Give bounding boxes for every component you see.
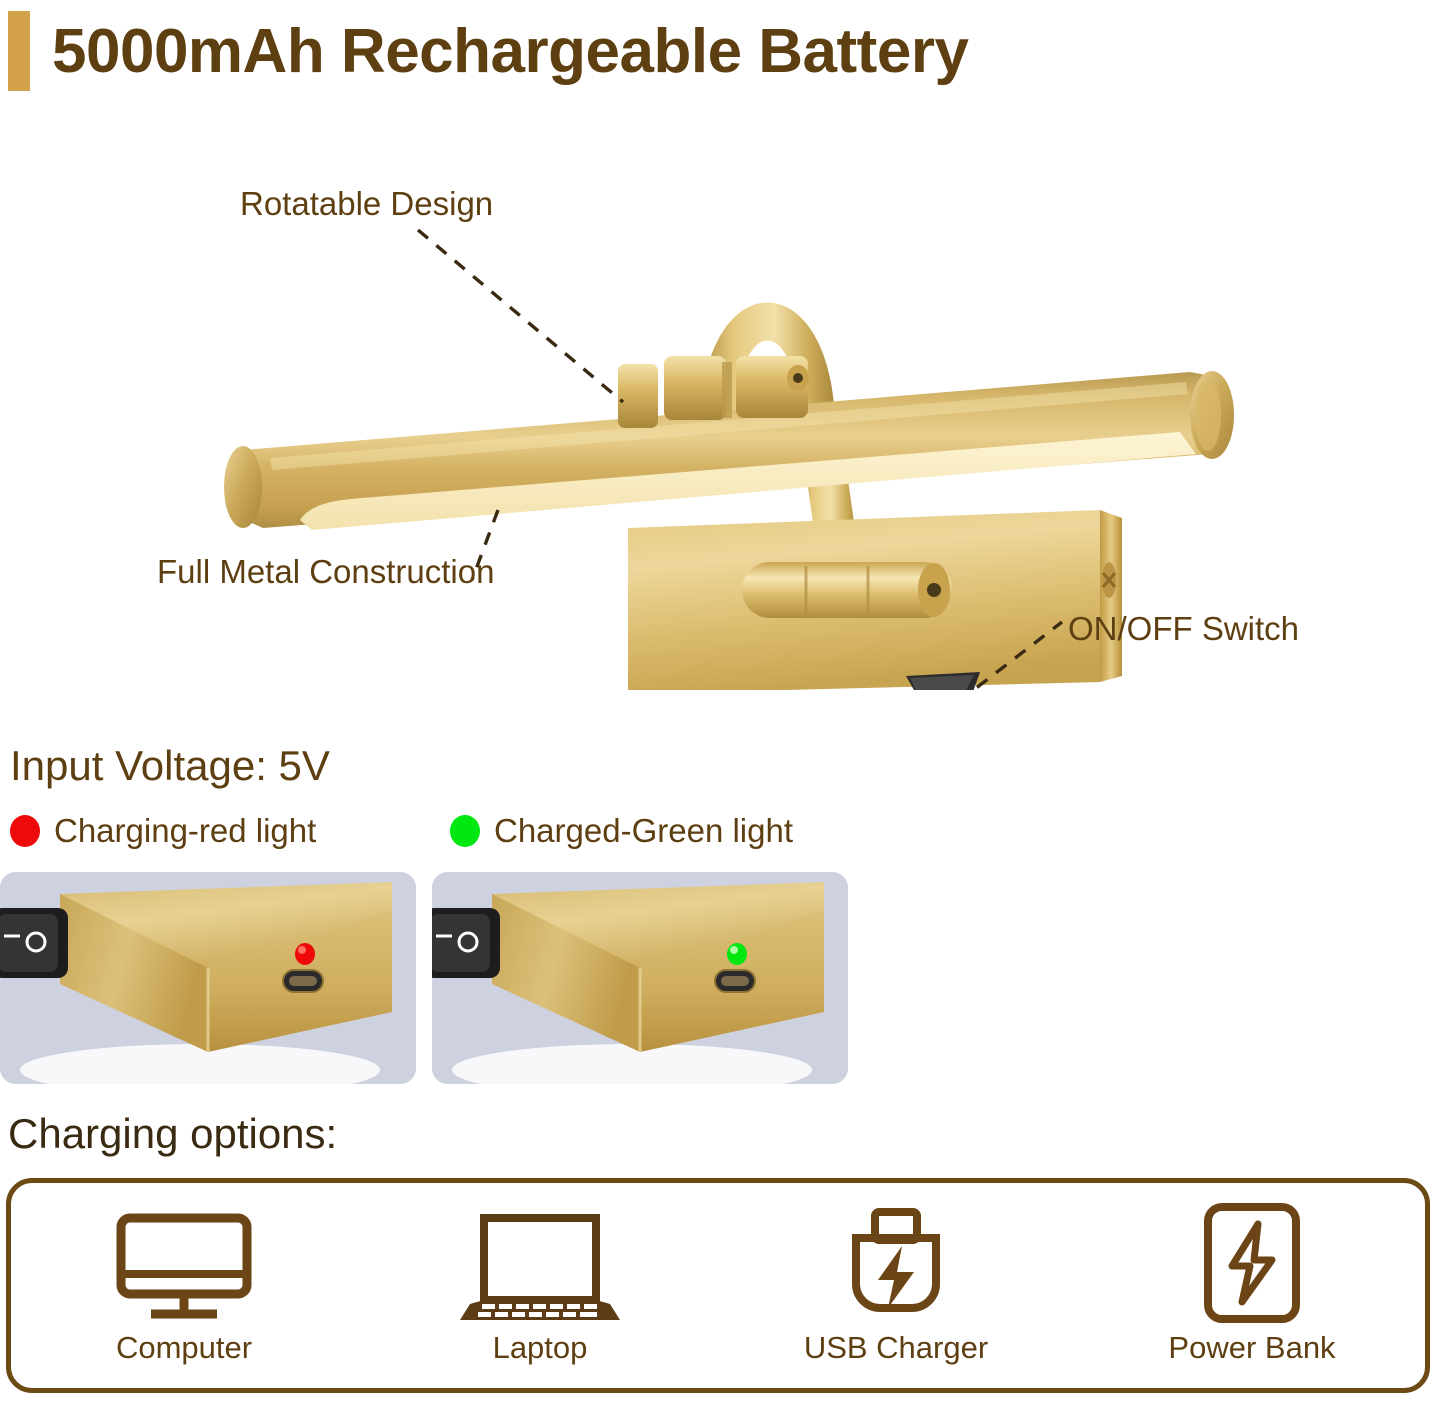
product-illustration <box>0 110 1443 690</box>
callout-rotatable-design: Rotatable Design <box>240 185 493 223</box>
power-bank-icon <box>1200 1206 1304 1324</box>
charging-options-grid: Computer Laptop <box>6 1178 1430 1393</box>
usb-c-port-icon <box>715 970 755 992</box>
indicator-photo-panels <box>0 872 860 1084</box>
callout-onoff-switch: ON/OFF Switch <box>1068 610 1299 648</box>
usb-charger-icon <box>838 1206 954 1324</box>
page-title-row: 5000mAh Rechargeable Battery <box>0 8 968 94</box>
rocker-switch-icon <box>0 908 68 978</box>
page-title: 5000mAh Rechargeable Battery <box>52 16 968 87</box>
green-led-dot-icon <box>450 815 480 847</box>
red-led-indicator <box>295 943 315 965</box>
legend-label-charging: Charging-red light <box>54 812 316 850</box>
charging-option-label-power-bank: Power Bank <box>1168 1330 1335 1366</box>
photo-panel-charging <box>0 872 416 1084</box>
usb-c-port-icon <box>283 970 323 992</box>
charging-option-laptop: Laptop <box>362 1178 718 1393</box>
charging-option-computer: Computer <box>6 1178 362 1393</box>
callout-full-metal-construction: Full Metal Construction <box>157 553 494 591</box>
legend-item-charged: Charged-Green light <box>450 812 793 850</box>
red-led-dot-icon <box>10 815 40 847</box>
charging-option-usb-charger: USB Charger <box>718 1178 1074 1393</box>
leader-line-rotatable <box>418 230 623 402</box>
pivot-knob <box>742 562 952 618</box>
rotatable-hinge <box>618 356 809 428</box>
charging-option-power-bank: Power Bank <box>1074 1178 1430 1393</box>
charging-option-label-usb-charger: USB Charger <box>804 1330 988 1366</box>
laptop-icon <box>454 1206 626 1324</box>
charging-option-label-computer: Computer <box>116 1330 252 1366</box>
charging-option-label-laptop: Laptop <box>493 1330 588 1366</box>
input-voltage-heading: Input Voltage: 5V <box>10 742 330 790</box>
legend-item-charging: Charging-red light <box>10 812 316 850</box>
monitor-icon <box>109 1206 259 1324</box>
charging-options-heading: Charging options: <box>8 1110 337 1158</box>
product-hero: Rotatable Design Full Metal Construction… <box>0 110 1443 690</box>
photo-charging-led <box>0 872 416 1084</box>
photo-panel-charged <box>432 872 848 1084</box>
photo-charged-led <box>432 872 848 1084</box>
legend-label-charged: Charged-Green light <box>494 812 793 850</box>
title-accent-bar <box>8 11 30 91</box>
green-led-indicator <box>727 943 747 965</box>
rocker-switch-icon <box>432 908 500 978</box>
led-legend: Charging-red light Charged-Green light <box>10 812 830 854</box>
